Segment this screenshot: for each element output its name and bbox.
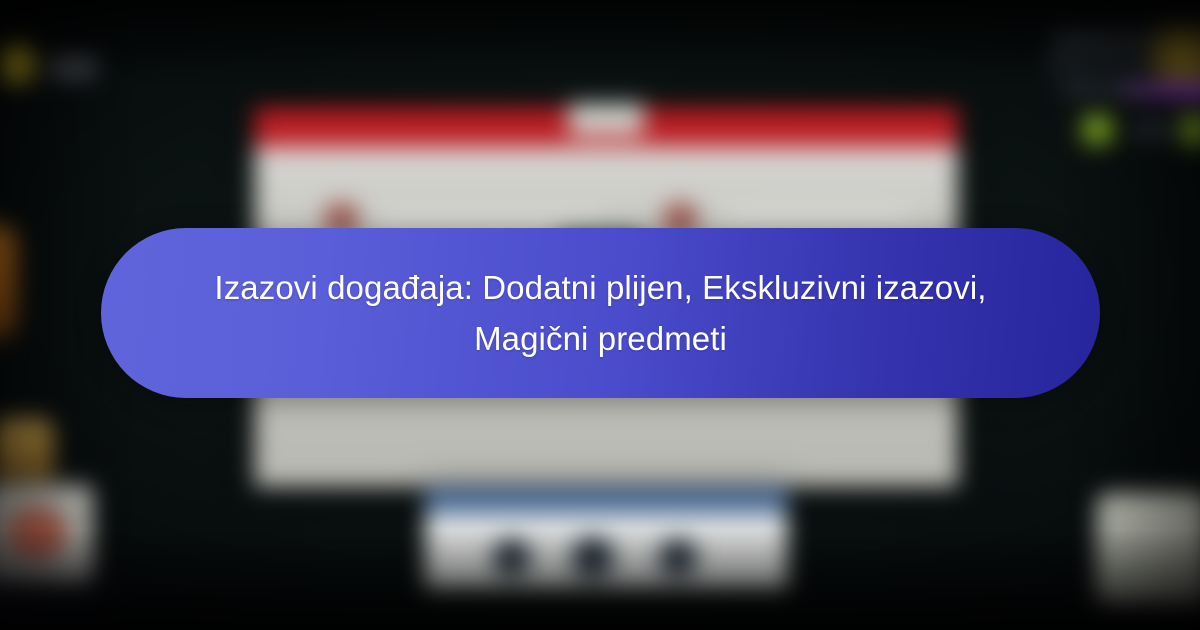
dot-grid-card-bottom-left: [0, 561, 95, 603]
banner-pill: Izazovi događaja: Dodatni plijen, Eksklu…: [101, 228, 1100, 398]
panel-strip-2: [725, 210, 912, 222]
game-window-notch: [569, 104, 644, 135]
taskbar-icon-1: [492, 539, 532, 579]
taskbar-header: [425, 489, 787, 516]
green-badge-1: [1083, 114, 1114, 145]
game-window-header: [255, 108, 958, 148]
dot-grid-gold-top-right: [1120, 25, 1200, 89]
hud-bar-top-left: [49, 56, 97, 77]
orange-hud-item-left: [0, 225, 16, 339]
taskbar-body: [425, 516, 787, 591]
hud-card-bottom-right: [1097, 493, 1200, 607]
taskbar-window: [425, 489, 787, 591]
gold-hud-icon-top-left: [0, 41, 34, 85]
green-badge-2: [1180, 114, 1200, 145]
taskbar-icon-3: [658, 539, 698, 579]
tan-hud-item-left: [0, 418, 53, 482]
screenshot-canvas: Izazovi događaja: Dodatni plijen, Eksklu…: [0, 0, 1200, 630]
hud-bar-top-right-4: [1132, 121, 1174, 140]
panel-strip-1: [380, 212, 598, 224]
banner-title: Izazovi događaja: Dodatni plijen, Eksklu…: [201, 262, 1001, 364]
taskbar-icon-2: [571, 537, 615, 581]
